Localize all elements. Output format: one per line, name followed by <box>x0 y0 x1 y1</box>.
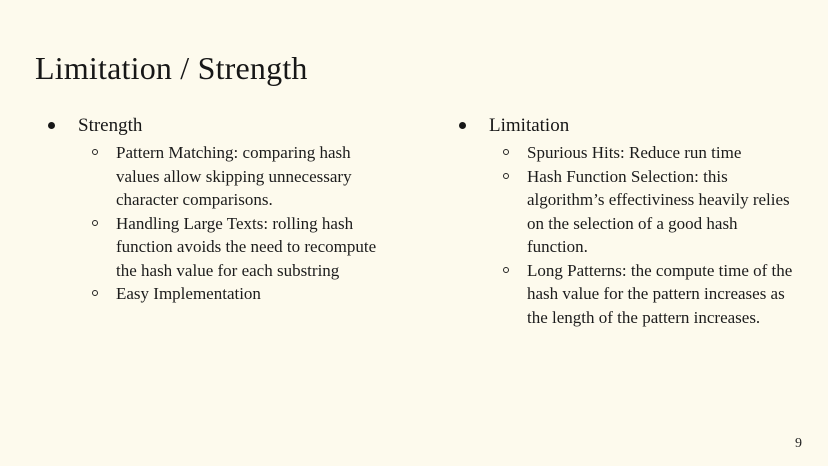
list-item: Pattern Matching: comparing hash values … <box>40 141 378 212</box>
bullet-group-limitation: Limitation Spurious Hits: Reduce run tim… <box>451 113 801 329</box>
bullet-level1-strength: Strength <box>40 113 420 139</box>
column-strength: Strength Pattern Matching: comparing has… <box>0 113 420 306</box>
list-item: Long Patterns: the compute time of the h… <box>451 259 793 330</box>
bullet-group-strength: Strength Pattern Matching: comparing has… <box>40 113 420 306</box>
bullet-level1-label: Strength <box>78 115 142 136</box>
list-item-text: Pattern Matching: comparing hash values … <box>116 143 352 209</box>
list-item: Spurious Hits: Reduce run time <box>451 141 793 165</box>
disc-bullet-icon <box>459 122 466 129</box>
slide: Limitation / Strength Strength Pattern M… <box>0 0 828 466</box>
list-item-text: Handling Large Texts: rolling hash funct… <box>116 214 376 280</box>
circle-bullet-icon <box>503 149 509 155</box>
bullet-level1-label: Limitation <box>489 115 569 136</box>
page-title: Limitation / Strength <box>35 48 308 88</box>
circle-bullet-icon <box>503 267 509 273</box>
column-limitation: Limitation Spurious Hits: Reduce run tim… <box>451 113 801 329</box>
sublist-limitation: Spurious Hits: Reduce run time Hash Func… <box>451 141 801 329</box>
content-columns: Strength Pattern Matching: comparing has… <box>0 113 828 306</box>
circle-bullet-icon <box>92 290 98 296</box>
sublist-strength: Pattern Matching: comparing hash values … <box>40 141 420 306</box>
list-item: Easy Implementation <box>40 282 378 306</box>
list-item: Hash Function Selection: this algorithm’… <box>451 165 793 259</box>
bullet-level1-limitation: Limitation <box>451 113 801 139</box>
circle-bullet-icon <box>92 149 98 155</box>
list-item-text: Spurious Hits: Reduce run time <box>527 143 741 162</box>
circle-bullet-icon <box>503 173 509 179</box>
list-item-text: Hash Function Selection: this algorithm’… <box>527 167 790 257</box>
disc-bullet-icon <box>48 122 55 129</box>
list-item-text: Long Patterns: the compute time of the h… <box>527 261 792 327</box>
circle-bullet-icon <box>92 220 98 226</box>
list-item-text: Easy Implementation <box>116 284 261 303</box>
list-item: Handling Large Texts: rolling hash funct… <box>40 212 378 283</box>
page-number: 9 <box>795 436 802 452</box>
